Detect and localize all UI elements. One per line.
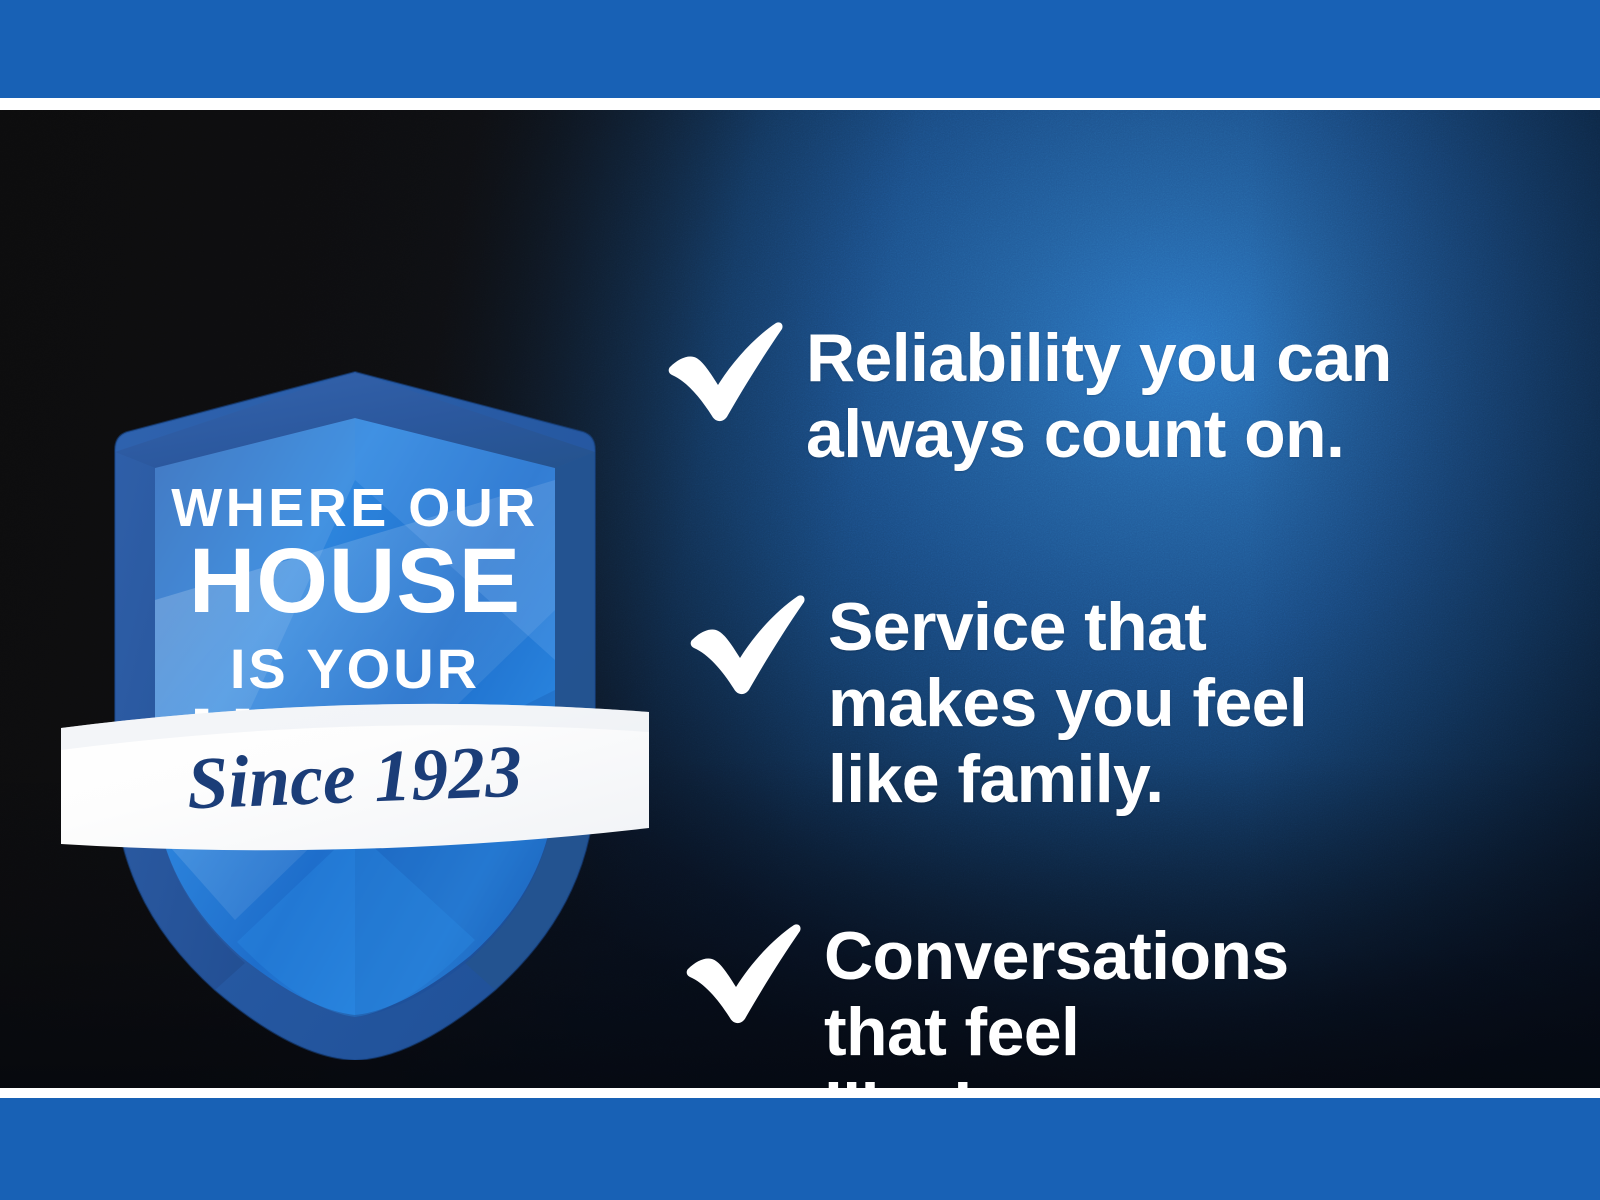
- shield-banner-text: Since 1923: [186, 731, 524, 826]
- bottom-white-divider: [0, 1088, 1600, 1098]
- shield-logo: WHERE OUR HOUSE IS YOUR HOUSE Since 1923: [55, 360, 655, 1060]
- checklist-item-2: Service that makes you feel like family.: [682, 588, 1307, 817]
- checklist-item-2-text: Service that makes you feel like family.: [828, 588, 1307, 817]
- top-brand-bar: [0, 0, 1600, 98]
- check-icon: [660, 315, 788, 427]
- bottom-brand-bar: [0, 1098, 1600, 1200]
- check-icon: [682, 588, 810, 700]
- check-icon: [678, 917, 806, 1029]
- main-canvas: WHERE OUR HOUSE IS YOUR HOUSE Since 1923: [0, 110, 1600, 1088]
- shield-banner: Since 1923: [61, 704, 649, 850]
- benefits-checklist: Reliability you can always count on. Ser…: [660, 220, 1560, 1088]
- checklist-item-3: Conversations that feel like home.: [678, 917, 1289, 1088]
- top-white-divider: [0, 98, 1600, 110]
- checklist-item-1: Reliability you can always count on.: [660, 315, 1392, 473]
- promo-graphic: WHERE OUR HOUSE IS YOUR HOUSE Since 1923: [0, 0, 1600, 1200]
- shield-line-2: HOUSE: [189, 530, 521, 632]
- checklist-item-3-text: Conversations that feel like home.: [824, 917, 1289, 1088]
- checklist-item-1-text: Reliability you can always count on.: [806, 315, 1392, 473]
- shield-line-1: WHERE OUR: [171, 478, 539, 538]
